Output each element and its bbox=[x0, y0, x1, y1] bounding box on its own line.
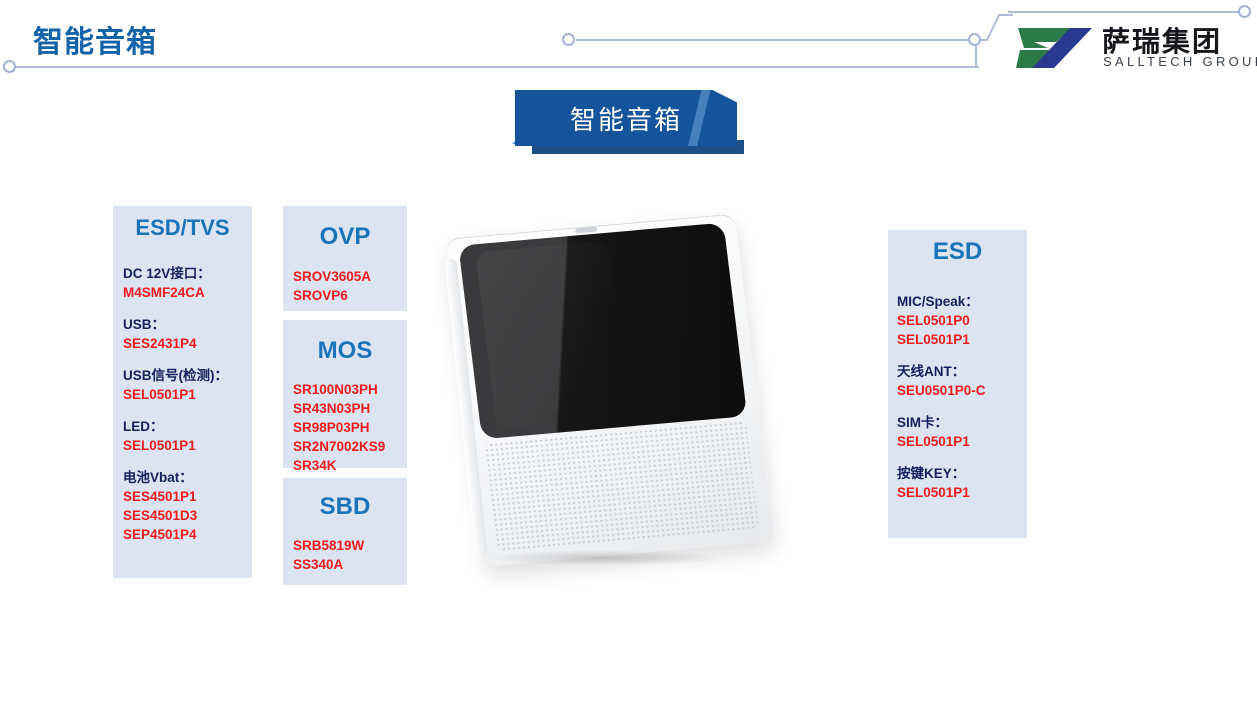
part-group: SRB5819WSS340A bbox=[293, 536, 407, 574]
part-group: MIC/Speak：SEL0501P0SEL0501P1 bbox=[897, 292, 1027, 349]
part-number: SROV3605A bbox=[293, 267, 407, 286]
logo-company-name-en: SALLTECH GROUP bbox=[1103, 54, 1257, 69]
part-group: SR100N03PHSR43N03PHSR98P03PHSR2N7002KS9S… bbox=[293, 380, 407, 475]
part-number: SS340A bbox=[293, 555, 407, 574]
part-group-label: USB： bbox=[123, 315, 252, 334]
panel-mos: MOS SR100N03PHSR43N03PHSR98P03PHSR2N7002… bbox=[283, 320, 407, 468]
page-title: 智能音箱 bbox=[33, 17, 157, 61]
panel-body: DC 12V接口：M4SMF24CAUSB：SES2431P4USB信号(检测)… bbox=[123, 264, 252, 544]
decorative-node-right bbox=[1238, 5, 1251, 18]
part-group: SROV3605ASROVP6 bbox=[293, 267, 407, 305]
part-number: SES2431P4 bbox=[123, 334, 252, 353]
part-number: SES4501P1 bbox=[123, 487, 252, 506]
panel-body: MIC/Speak：SEL0501P0SEL0501P1天线ANT：SEU050… bbox=[897, 292, 1027, 502]
decorative-node-left bbox=[3, 60, 16, 73]
decorative-line-right bbox=[1008, 11, 1241, 13]
part-group: USB：SES2431P4 bbox=[123, 315, 252, 353]
part-number: SES4501D3 bbox=[123, 506, 252, 525]
panel-title: SBD bbox=[283, 495, 407, 519]
product-image-smart-speaker bbox=[440, 215, 790, 595]
part-number: M4SMF24CA bbox=[123, 283, 252, 302]
panel-esd-tvs: ESD/TVS DC 12V接口：M4SMF24CAUSB：SES2431P4U… bbox=[113, 206, 252, 578]
panel-ovp: OVP SROV3605ASROVP6 bbox=[283, 206, 407, 311]
part-number: SEP4501P4 bbox=[123, 525, 252, 544]
decorative-line-lower bbox=[16, 66, 979, 68]
part-number: SEL0501P1 bbox=[123, 436, 252, 455]
part-group: 按键KEY：SEL0501P1 bbox=[897, 464, 1027, 502]
part-number: SEL0501P1 bbox=[897, 432, 1027, 451]
part-group: 电池Vbat：SES4501P1SES4501D3SEP4501P4 bbox=[123, 468, 252, 544]
panel-title: ESD/TVS bbox=[113, 217, 252, 239]
part-group: SIM卡：SEL0501P1 bbox=[897, 413, 1027, 451]
decorative-node-top bbox=[562, 33, 575, 46]
company-logo: 萨瑞集团 SALLTECH GROUP bbox=[1014, 22, 1244, 74]
part-group-label: 天线ANT： bbox=[897, 362, 1027, 381]
salltech-logo-mark bbox=[1014, 26, 1096, 70]
panel-title: OVP bbox=[283, 225, 407, 249]
decorative-node-junction bbox=[968, 33, 981, 46]
part-group: DC 12V接口：M4SMF24CA bbox=[123, 264, 252, 302]
part-group-label: MIC/Speak： bbox=[897, 292, 1027, 311]
panel-body: SRB5819WSS340A bbox=[293, 536, 407, 574]
part-number: SEU0501P0-C bbox=[897, 381, 1027, 400]
device-screen bbox=[458, 223, 747, 440]
part-group: 天线ANT：SEU0501P0-C bbox=[897, 362, 1027, 400]
part-group-label: 电池Vbat： bbox=[123, 468, 252, 487]
part-number: SR43N03PH bbox=[293, 399, 407, 418]
part-number: SRB5819W bbox=[293, 536, 407, 555]
device-render bbox=[445, 214, 774, 567]
section-banner: 智能音箱 bbox=[512, 90, 750, 158]
decorative-line-top bbox=[576, 39, 976, 41]
banner-title: 智能音箱 bbox=[515, 90, 737, 146]
part-group: LED：SEL0501P1 bbox=[123, 417, 252, 455]
panel-body: SR100N03PHSR43N03PHSR98P03PHSR2N7002KS9S… bbox=[293, 380, 407, 475]
part-number: SR34K bbox=[293, 456, 407, 475]
part-group-label: DC 12V接口： bbox=[123, 264, 252, 283]
panel-esd: ESD MIC/Speak：SEL0501P0SEL0501P1天线ANT：SE… bbox=[888, 230, 1027, 538]
device-shadow bbox=[485, 550, 725, 566]
part-group-label: USB信号(检测)： bbox=[123, 366, 252, 385]
part-group-label: LED： bbox=[123, 417, 252, 436]
panel-title: MOS bbox=[283, 339, 407, 363]
part-group: USB信号(检测)：SEL0501P1 bbox=[123, 366, 252, 404]
part-group-label: 按键KEY： bbox=[897, 464, 1027, 483]
panel-body: SROV3605ASROVP6 bbox=[293, 267, 407, 305]
part-group-label: SIM卡： bbox=[897, 413, 1027, 432]
panel-title: ESD bbox=[888, 240, 1027, 264]
part-number: SROVP6 bbox=[293, 286, 407, 305]
part-number: SEL0501P1 bbox=[897, 483, 1027, 502]
device-speaker-grille bbox=[485, 421, 759, 551]
part-number: SR2N7002KS9 bbox=[293, 437, 407, 456]
part-number: SEL0501P1 bbox=[123, 385, 252, 404]
part-number: SR98P03PH bbox=[293, 418, 407, 437]
part-number: SEL0501P1 bbox=[897, 330, 1027, 349]
part-number: SEL0501P0 bbox=[897, 311, 1027, 330]
panel-sbd: SBD SRB5819WSS340A bbox=[283, 478, 407, 585]
part-number: SR100N03PH bbox=[293, 380, 407, 399]
